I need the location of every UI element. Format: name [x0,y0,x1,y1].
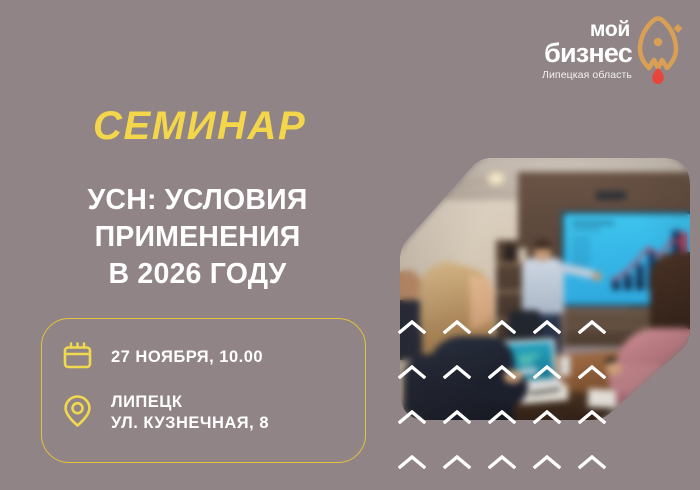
chevron-up-icon [578,365,606,379]
headline-line-2: ПРИМЕНЕНИЯ [0,219,395,256]
chevron-up-icon [533,410,561,424]
chevron-up-icon [443,320,471,334]
event-date-row: 27 НОЯБРЯ, 10.00 [62,340,263,374]
chevron-up-icon [488,365,516,379]
chevron-up-icon [443,455,471,469]
chevron-up-icon [578,410,606,424]
event-city: ЛИПЕЦК [111,393,182,411]
chevron-up-icon [578,455,606,469]
logo-wordmark: мой бизнес Липецкая область [542,16,632,82]
chevron-up-icon [398,410,426,424]
page-title: УСН: УСЛОВИЯ ПРИМЕНЕНИЯ В 2026 ГОДУ [0,182,395,293]
chevron-up-icon [533,365,561,379]
chevron-up-icon [398,365,426,379]
chevron-up-icon [488,455,516,469]
chevron-up-icon [533,455,561,469]
logo-region-label: Липецкая область [542,68,632,82]
logo-line-biznes: бизнес [544,40,632,66]
chevron-up-icon [443,365,471,379]
chevron-up-icon [443,410,471,424]
chevron-up-icon [533,320,561,334]
event-date-text: 27 НОЯБРЯ, 10.00 [111,347,263,368]
event-location-text: ЛИПЕЦК УЛ. КУЗНЕЧНАЯ, 8 [111,392,269,434]
headline-line-3: В 2026 ГОДУ [0,256,395,293]
rocket-pin-mark-icon [636,16,682,86]
brand-logo: мой бизнес Липецкая область [542,16,682,86]
chevron-pattern [398,320,700,490]
event-street: УЛ. КУЗНЕЧНАЯ, 8 [111,414,269,432]
chevron-up-icon [488,410,516,424]
chevron-up-icon [398,320,426,334]
event-details-box: 27 НОЯБРЯ, 10.00 ЛИПЕЦК УЛ. КУЗНЕЧНАЯ, 8 [41,318,366,463]
chevron-up-icon [488,320,516,334]
map-pin-icon [62,394,93,428]
event-location-row: ЛИПЕЦК УЛ. КУЗНЕЧНАЯ, 8 [62,392,269,434]
seminar-poster: мой бизнес Липецкая область СЕМИНАР УСН:… [0,0,700,490]
calendar-icon [62,340,93,374]
logo-line-moy: мой [590,20,630,40]
page-kicker: СЕМИНАР [93,104,306,149]
chevron-up-icon [578,320,606,334]
chevron-up-icon [398,455,426,469]
headline-line-1: УСН: УСЛОВИЯ [0,182,395,219]
